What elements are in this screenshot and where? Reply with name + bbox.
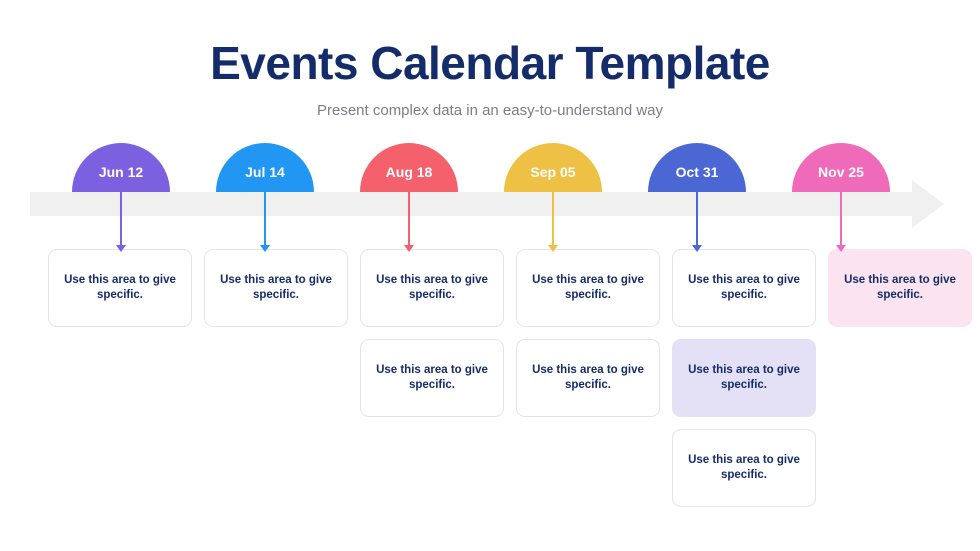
timeline-marker[interactable]: Aug 18	[360, 143, 458, 192]
timeline-marker-label: Aug 18	[386, 164, 433, 180]
timeline-marker-label: Sep 05	[530, 164, 575, 180]
content-card[interactable]: Use this area to give specific.	[360, 249, 504, 327]
connector-line	[840, 192, 842, 250]
content-card[interactable]: Use this area to give specific.	[360, 339, 504, 417]
content-card-text: Use this area to give specific.	[61, 273, 179, 303]
card-spacer	[204, 339, 348, 417]
content-card[interactable]: Use this area to give specific.	[672, 249, 816, 327]
card-row: Use this area to give specific.Use this …	[48, 339, 932, 417]
content-card-text: Use this area to give specific.	[529, 273, 647, 303]
page-subtitle: Present complex data in an easy-to-under…	[0, 88, 980, 120]
connector-line	[264, 192, 266, 250]
content-card-text: Use this area to give specific.	[373, 363, 491, 393]
card-spacer	[48, 429, 192, 507]
connector-arrow-icon	[404, 245, 414, 252]
content-card-text: Use this area to give specific.	[217, 273, 335, 303]
content-card-text: Use this area to give specific.	[529, 363, 647, 393]
content-card[interactable]: Use this area to give specific.	[672, 429, 816, 507]
connector-arrow-icon	[836, 245, 846, 252]
card-row: Use this area to give specific.Use this …	[48, 249, 932, 327]
content-card-text: Use this area to give specific.	[840, 273, 960, 303]
connector-arrow-icon	[116, 245, 126, 252]
content-card[interactable]: Use this area to give specific.	[516, 339, 660, 417]
connector-arrow-icon	[548, 245, 558, 252]
connector-line	[120, 192, 122, 250]
timeline-marker-label: Jul 14	[245, 164, 285, 180]
connector-arrow-icon	[692, 245, 702, 252]
content-card-text: Use this area to give specific.	[685, 273, 803, 303]
cards-grid: Use this area to give specific.Use this …	[48, 249, 932, 539]
connector-line	[552, 192, 554, 250]
connector-line	[696, 192, 698, 250]
timeline-marker-label: Oct 31	[676, 164, 719, 180]
timeline-marker[interactable]: Jun 12	[72, 143, 170, 192]
timeline-marker[interactable]: Oct 31	[648, 143, 746, 192]
connector-line	[408, 192, 410, 250]
timeline-marker-label: Nov 25	[818, 164, 864, 180]
timeline-marker[interactable]: Jul 14	[216, 143, 314, 192]
timeline-marker[interactable]: Nov 25	[792, 143, 890, 192]
header: Events Calendar Template Present complex…	[0, 0, 980, 120]
content-card-text: Use this area to give specific.	[373, 273, 491, 303]
content-card[interactable]: Use this area to give specific.	[204, 249, 348, 327]
card-spacer	[360, 429, 504, 507]
timeline: Jun 12Jul 14Aug 18Sep 05Oct 31Nov 25	[0, 140, 980, 260]
timeline-marker[interactable]: Sep 05	[504, 143, 602, 192]
card-spacer	[828, 429, 972, 507]
content-card-text: Use this area to give specific.	[684, 363, 804, 393]
timeline-marker-label: Jun 12	[99, 164, 143, 180]
content-card[interactable]: Use this area to give specific.	[828, 249, 972, 327]
content-card[interactable]: Use this area to give specific.	[672, 339, 816, 417]
content-card[interactable]: Use this area to give specific.	[516, 249, 660, 327]
content-card-text: Use this area to give specific.	[685, 453, 803, 483]
card-spacer	[204, 429, 348, 507]
timeline-bar	[30, 192, 920, 216]
card-row: Use this area to give specific.	[48, 429, 932, 507]
content-card[interactable]: Use this area to give specific.	[48, 249, 192, 327]
card-spacer	[828, 339, 972, 417]
card-spacer	[48, 339, 192, 417]
card-spacer	[516, 429, 660, 507]
arrow-right-icon	[912, 180, 944, 228]
connector-arrow-icon	[260, 245, 270, 252]
page-title: Events Calendar Template	[0, 0, 980, 88]
